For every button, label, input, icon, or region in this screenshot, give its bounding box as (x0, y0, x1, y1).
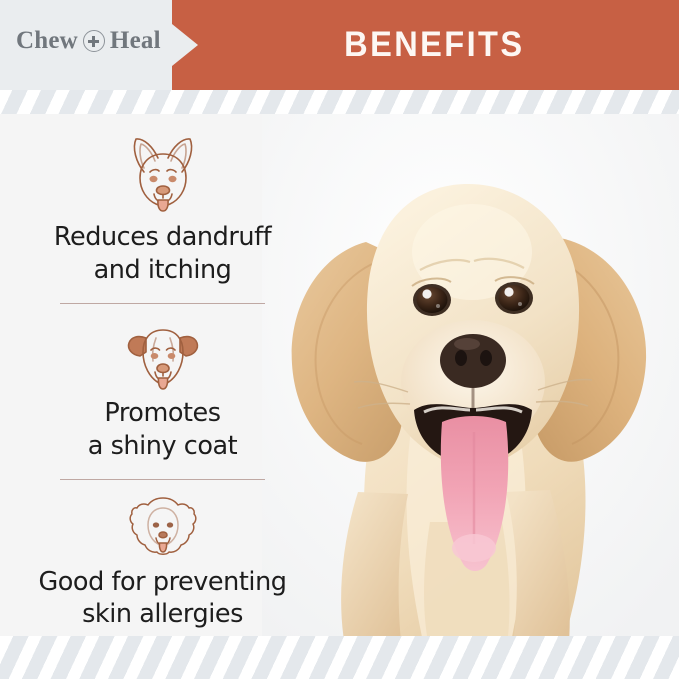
header: Chew Heal BENEFITS (0, 0, 679, 90)
benefit-divider (60, 479, 265, 480)
corgi-dog-face-icon (0, 132, 325, 217)
fluffy-dog-face-icon (0, 494, 325, 563)
benefits-banner: BENEFITS (172, 0, 679, 90)
stripe-band-top (0, 88, 679, 114)
brand-word-chew: Chew (16, 27, 78, 55)
benefits-list: Reduces dandruff and itching (0, 132, 325, 631)
circled-plus-icon (83, 30, 105, 52)
stripe-band-bottom (0, 636, 679, 679)
brand-logo: Chew Heal (16, 27, 161, 55)
benefit-label: Reduces dandruff and itching (0, 221, 325, 287)
benefit-divider (60, 303, 265, 304)
page-title: BENEFITS (327, 25, 524, 65)
benefit-item: Reduces dandruff and itching (0, 132, 325, 287)
benefit-label: Good for preventing skin allergies (0, 566, 325, 632)
benefit-label: Promotes a shiny coat (0, 397, 325, 463)
terrier-dog-face-icon (0, 318, 325, 395)
benefit-item: Good for preventing skin allergies (0, 494, 325, 632)
benefits-infographic: Chew Heal BENEFITS (0, 0, 679, 679)
brand-word-heal: Heal (110, 27, 161, 55)
benefit-item: Promotes a shiny coat (0, 318, 325, 463)
